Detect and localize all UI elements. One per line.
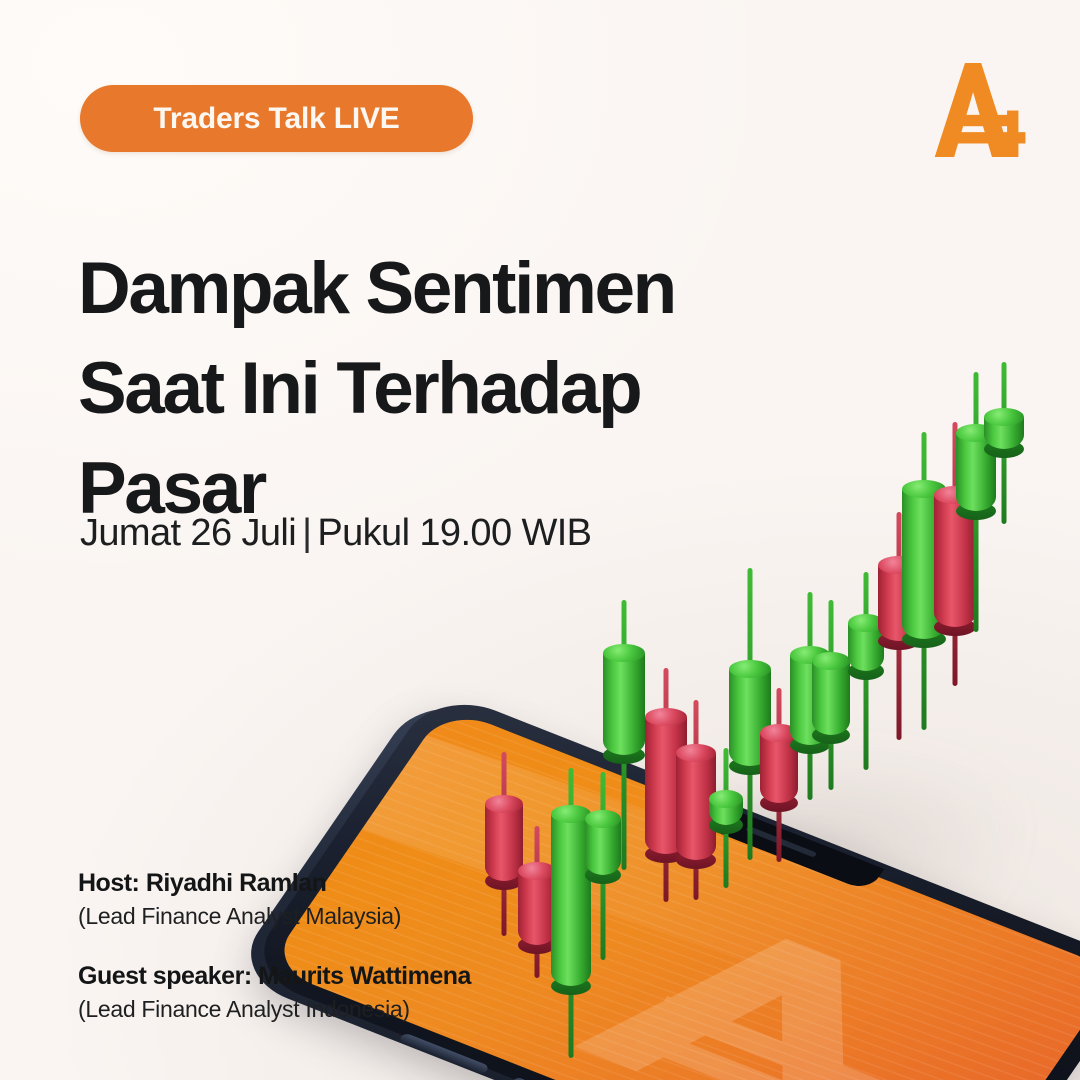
title-line-2: Saat Ini Terhadap [78,339,798,439]
candle-body-base [956,502,996,520]
title-line-1: Dampak Sentimen [78,239,798,339]
credit-name: Host: Riyadhi Ramlan [78,866,471,900]
live-badge-label: Traders Talk LIVE [153,102,399,136]
candle-body-side [984,417,1024,449]
candle-wick [1002,362,1007,524]
schedule-time: Pukul 19.00 WIB [317,512,591,554]
schedule-line: Jumat 26 Juli|Pukul 19.00 WIB [80,512,591,555]
candle-body-cap [984,408,1024,426]
candle-body-cap [956,424,996,442]
candle-body-cap [934,486,976,504]
schedule-date: Jumat 26 Juli [80,512,296,554]
credit-name: Guest speaker: Maurits Wattimena [78,959,471,993]
credits-block: Host: Riyadhi Ramlan (Lead Finance Analy… [78,866,471,1052]
candle-body-base [984,440,1024,458]
credit-guest: Guest speaker: Maurits Wattimena (Lead F… [78,959,471,1026]
brand-a-logo-icon [925,58,1033,162]
candle-body-cap [902,480,946,498]
live-badge[interactable]: Traders Talk LIVE [80,85,473,152]
credit-role: (Lead Finance Analyst Malaysia) [78,900,471,933]
page-title: Dampak Sentimen Saat Ini Terhadap Pasar [78,239,798,539]
candle-body [956,424,996,520]
credit-role: (Lead Finance Analyst Indonesia) [78,993,471,1026]
candle-body [984,408,1024,458]
candlestick-bullish [984,362,1024,524]
credit-host: Host: Riyadhi Ramlan (Lead Finance Analy… [78,866,471,933]
schedule-separator: | [296,512,317,554]
poster-canvas: Traders Talk LIVE Dampak Sentimen Saat I… [0,0,1080,1080]
candle-body-side [956,433,996,511]
